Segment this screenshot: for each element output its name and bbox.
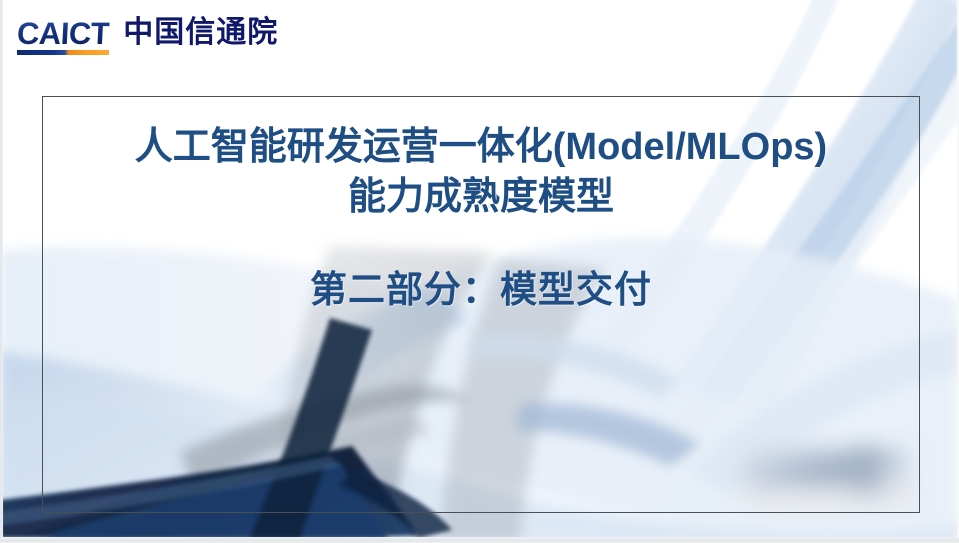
- slide-title: 人工智能研发运营一体化(Model/MLOps) 能力成熟度模型: [42, 122, 920, 222]
- subtitle-line-1: 第二部分：模型交付: [42, 266, 920, 314]
- caict-chinese-name: 中国信通院: [123, 18, 278, 48]
- slide-edge-left: [0, 0, 3, 543]
- background-artwork: [0, 0, 959, 543]
- title-line-1: 人工智能研发运营一体化(Model/MLOps): [42, 122, 920, 172]
- caict-wordmark-text: CAICT: [16, 18, 110, 49]
- caict-logo: CAICT 中国信通院: [17, 18, 278, 49]
- content-frame-border: [42, 96, 920, 513]
- title-line-2: 能力成熟度模型: [42, 172, 920, 222]
- caict-wordmark: CAICT: [17, 18, 109, 49]
- slide-subtitle: 第二部分：模型交付: [42, 266, 920, 314]
- caict-underline-bar: [17, 50, 109, 55]
- presentation-slide: CAICT 中国信通院 人工智能研发运营一体化(Model/MLOps) 能力成…: [0, 0, 959, 543]
- slide-edge-bottom: [0, 537, 959, 543]
